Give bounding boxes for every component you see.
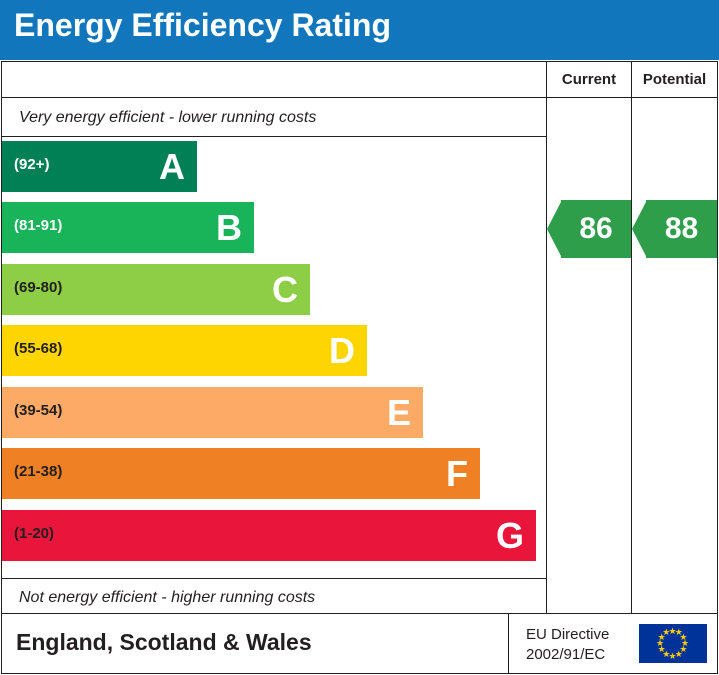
footer-divider — [508, 614, 509, 673]
caption-inefficient: Not energy efficient - higher running co… — [19, 589, 315, 607]
band-a: (92+)A — [2, 141, 197, 192]
eu-directive-line2: 2002/91/EC — [526, 645, 609, 665]
rating-potential-arrow-icon — [632, 200, 647, 258]
band-f: (21-38)F — [2, 448, 480, 499]
band-e-letter: E — [387, 390, 411, 435]
rating-current-arrow-icon — [547, 200, 562, 258]
band-c-letter: C — [272, 267, 298, 312]
band-b: (81-91)B — [2, 202, 254, 253]
eu-directive-line1: EU Directive — [526, 625, 609, 645]
chart-header: Energy Efficiency Rating — [0, 0, 719, 60]
divider-vertical-current — [546, 62, 547, 613]
rating-potential-value: 88 — [646, 200, 717, 258]
caption-efficient: Very energy efficient - lower running co… — [19, 109, 316, 127]
band-c: (69-80)C — [2, 264, 310, 315]
band-f-letter: F — [446, 451, 468, 496]
band-g-range: (1-20) — [14, 525, 54, 542]
divider-vertical-potential — [631, 62, 632, 613]
epc-certificate-chart: Energy Efficiency Rating Current Potenti… — [0, 0, 719, 675]
rating-potential: 88 — [632, 200, 717, 258]
footer-region-label: England, Scotland & Wales — [16, 629, 312, 656]
eu-directive-text: EU Directive 2002/91/EC — [526, 625, 609, 665]
chart-footer: England, Scotland & Wales EU Directive 2… — [1, 613, 718, 674]
band-d: (55-68)D — [2, 325, 367, 376]
eu-flag-icon: ★★★★★★★★★★★★ — [639, 624, 707, 663]
band-g-letter: G — [496, 513, 524, 558]
band-b-range: (81-91) — [14, 217, 62, 234]
column-header-potential: Potential — [632, 71, 717, 88]
page-title: Energy Efficiency Rating — [14, 7, 391, 44]
rating-current-value: 86 — [561, 200, 631, 258]
band-a-letter: A — [159, 144, 185, 189]
chart-body: Current Potential Very energy efficient … — [1, 61, 718, 614]
band-e-range: (39-54) — [14, 402, 62, 419]
eu-flag-star-icon: ★ — [662, 628, 670, 637]
band-a-range: (92+) — [14, 156, 49, 173]
band-c-range: (69-80) — [14, 279, 62, 296]
column-header-current: Current — [547, 71, 631, 88]
divider-horizontal-top — [2, 136, 547, 137]
band-f-range: (21-38) — [14, 463, 62, 480]
column-header-row: Current Potential — [2, 62, 717, 98]
divider-horizontal-bottom — [2, 578, 547, 579]
band-b-letter: B — [216, 205, 242, 250]
band-d-letter: D — [329, 328, 355, 373]
band-d-range: (55-68) — [14, 340, 62, 357]
rating-current: 86 — [547, 200, 631, 258]
band-g: (1-20)G — [2, 510, 536, 561]
band-e: (39-54)E — [2, 387, 423, 438]
